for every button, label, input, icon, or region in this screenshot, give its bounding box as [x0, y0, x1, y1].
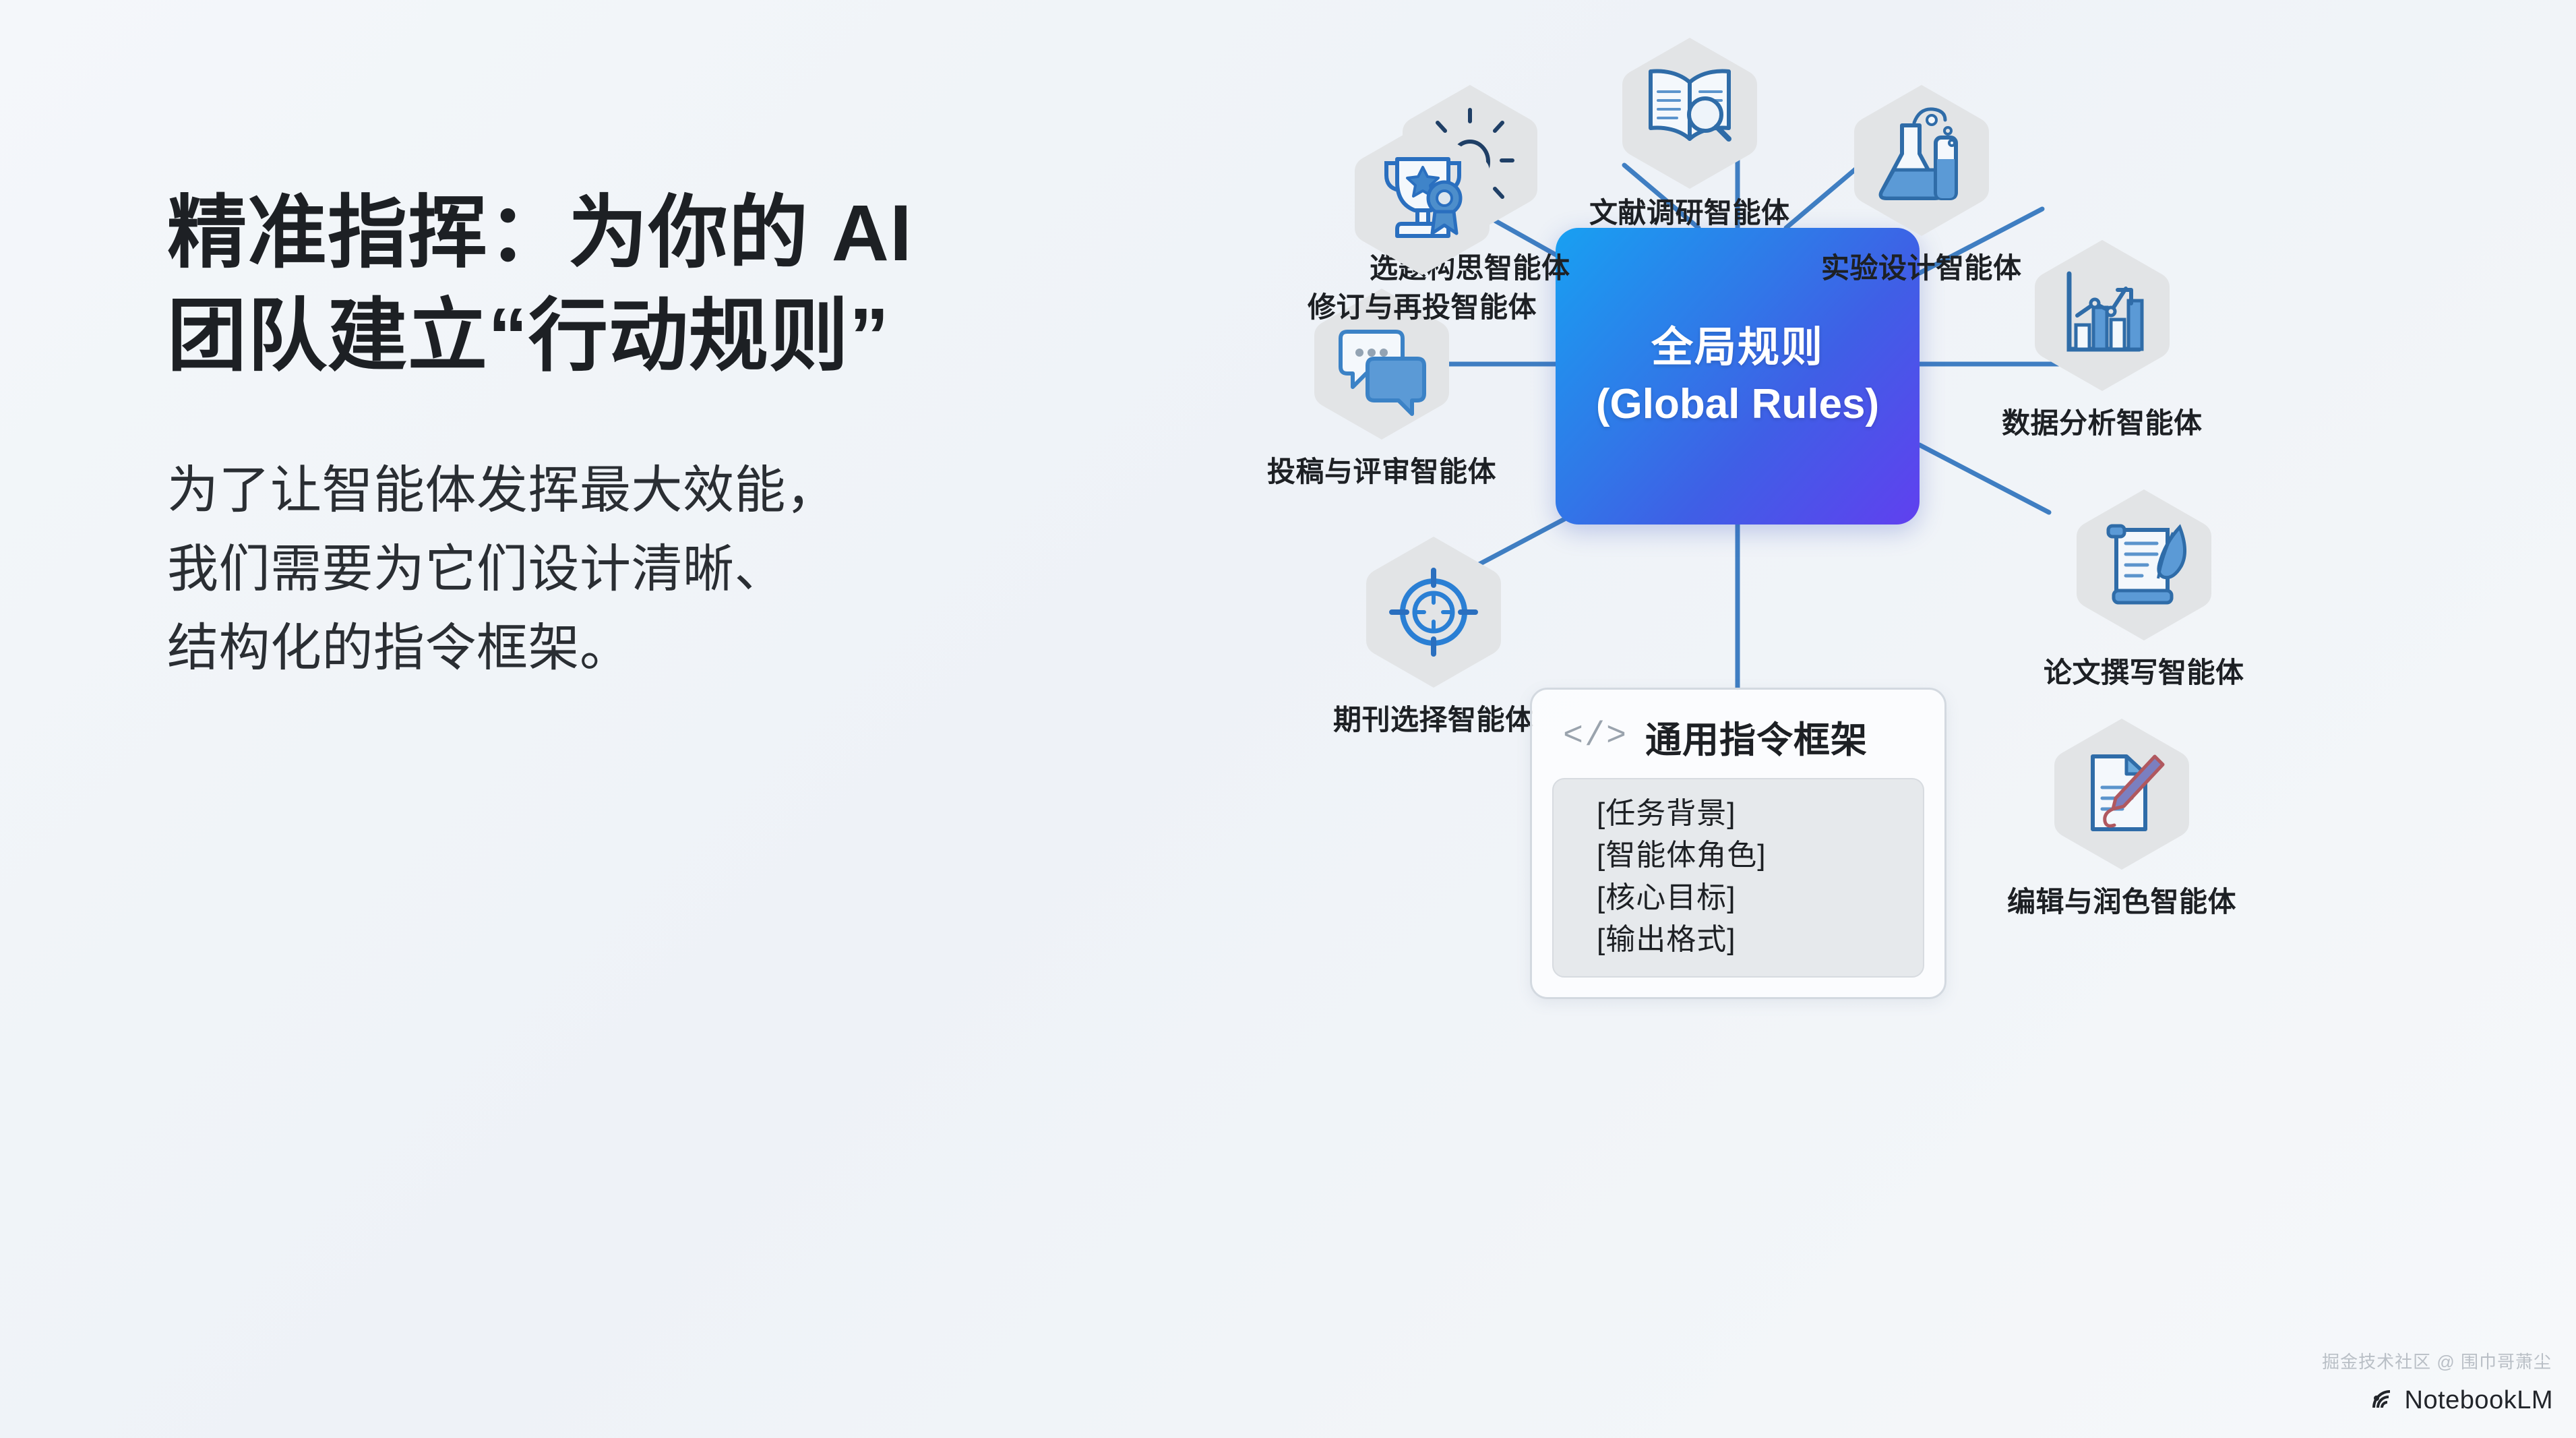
slide-canvas: 精准指挥：为你的 AI 团队建立“行动规则” 为了让智能体发挥最大效能， 我们需…	[0, 0, 2576, 1438]
node-experiment-design[interactable]: 实验设计智能体	[1821, 81, 2022, 287]
node-revision-resubmit[interactable]: 修订与再投智能体	[1308, 120, 1537, 326]
agent-network-diagram: 全局规则 (Global Rules) 选题构思智能体	[1105, 40, 2548, 1396]
hub-title-cn: 全局规则	[1651, 323, 1824, 373]
node-label: 论文撰写智能体	[2044, 650, 2244, 691]
book-search-icon	[1618, 34, 1762, 193]
notebooklm-label: NotebookLM	[2405, 1386, 2553, 1415]
notebooklm-mark-icon	[2370, 1387, 2397, 1414]
framework-header: </> 通用指令框架	[1552, 707, 1924, 763]
framework-title: 通用指令框架	[1645, 710, 1868, 763]
node-label: 投稿与评审智能体	[1267, 449, 1496, 490]
page-title: 精准指挥：为你的 AI 团队建立“行动规则”	[167, 182, 1124, 389]
node-label: 修订与再投智能体	[1308, 284, 1537, 326]
target-icon	[1361, 533, 1506, 692]
text-column: 精准指挥：为你的 AI 团队建立“行动规则” 为了让智能体发挥最大效能， 我们需…	[167, 182, 1124, 688]
framework-item: [输出格式]	[1554, 919, 1923, 961]
document-pen-icon	[2050, 715, 2194, 874]
bar-chart-icon	[2030, 236, 2174, 395]
hub-title-en: (Global Rules)	[1596, 380, 1879, 429]
instruction-framework-card[interactable]: </> 通用指令框架 [任务背景] [智能体角色] [核心目标] [输出格式]	[1530, 688, 1946, 999]
community-watermark: 掘金技术社区 @ 围巾哥萧尘	[2322, 1348, 2552, 1373]
notebooklm-logo: NotebookLM	[2370, 1386, 2553, 1415]
node-label: 期刊选择智能体	[1333, 697, 1534, 738]
framework-item: [核心目标]	[1554, 877, 1923, 919]
edge-to-docpen	[1920, 445, 2049, 512]
framework-item: [智能体角色]	[1554, 835, 1923, 876]
node-label: 编辑与润色智能体	[2007, 879, 2236, 920]
node-label: 实验设计智能体	[1821, 245, 2022, 287]
scroll-quill-icon	[2072, 485, 2216, 645]
code-icon: </>	[1563, 717, 1628, 756]
node-journal-selection[interactable]: 期刊选择智能体	[1333, 533, 1534, 738]
page-subtext: 为了让智能体发挥最大效能， 我们需要为它们设计清晰、 结构化的指令框架。	[167, 451, 1124, 688]
node-label: 数据分析智能体	[2002, 400, 2203, 442]
framework-item: [任务背景]	[1554, 793, 1923, 835]
node-literature-review[interactable]: 文献调研智能体	[1589, 34, 1790, 231]
node-data-analysis[interactable]: 数据分析智能体	[2002, 236, 2203, 442]
node-label: 文献调研智能体	[1589, 190, 1790, 231]
node-paper-writing[interactable]: 论文撰写智能体	[2044, 485, 2244, 691]
trophy-icon	[1350, 120, 1494, 279]
framework-items: [任务背景] [智能体角色] [核心目标] [输出格式]	[1552, 778, 1924, 978]
node-edit-polish[interactable]: 编辑与润色智能体	[2007, 715, 2236, 920]
flask-icon	[1849, 81, 1994, 240]
